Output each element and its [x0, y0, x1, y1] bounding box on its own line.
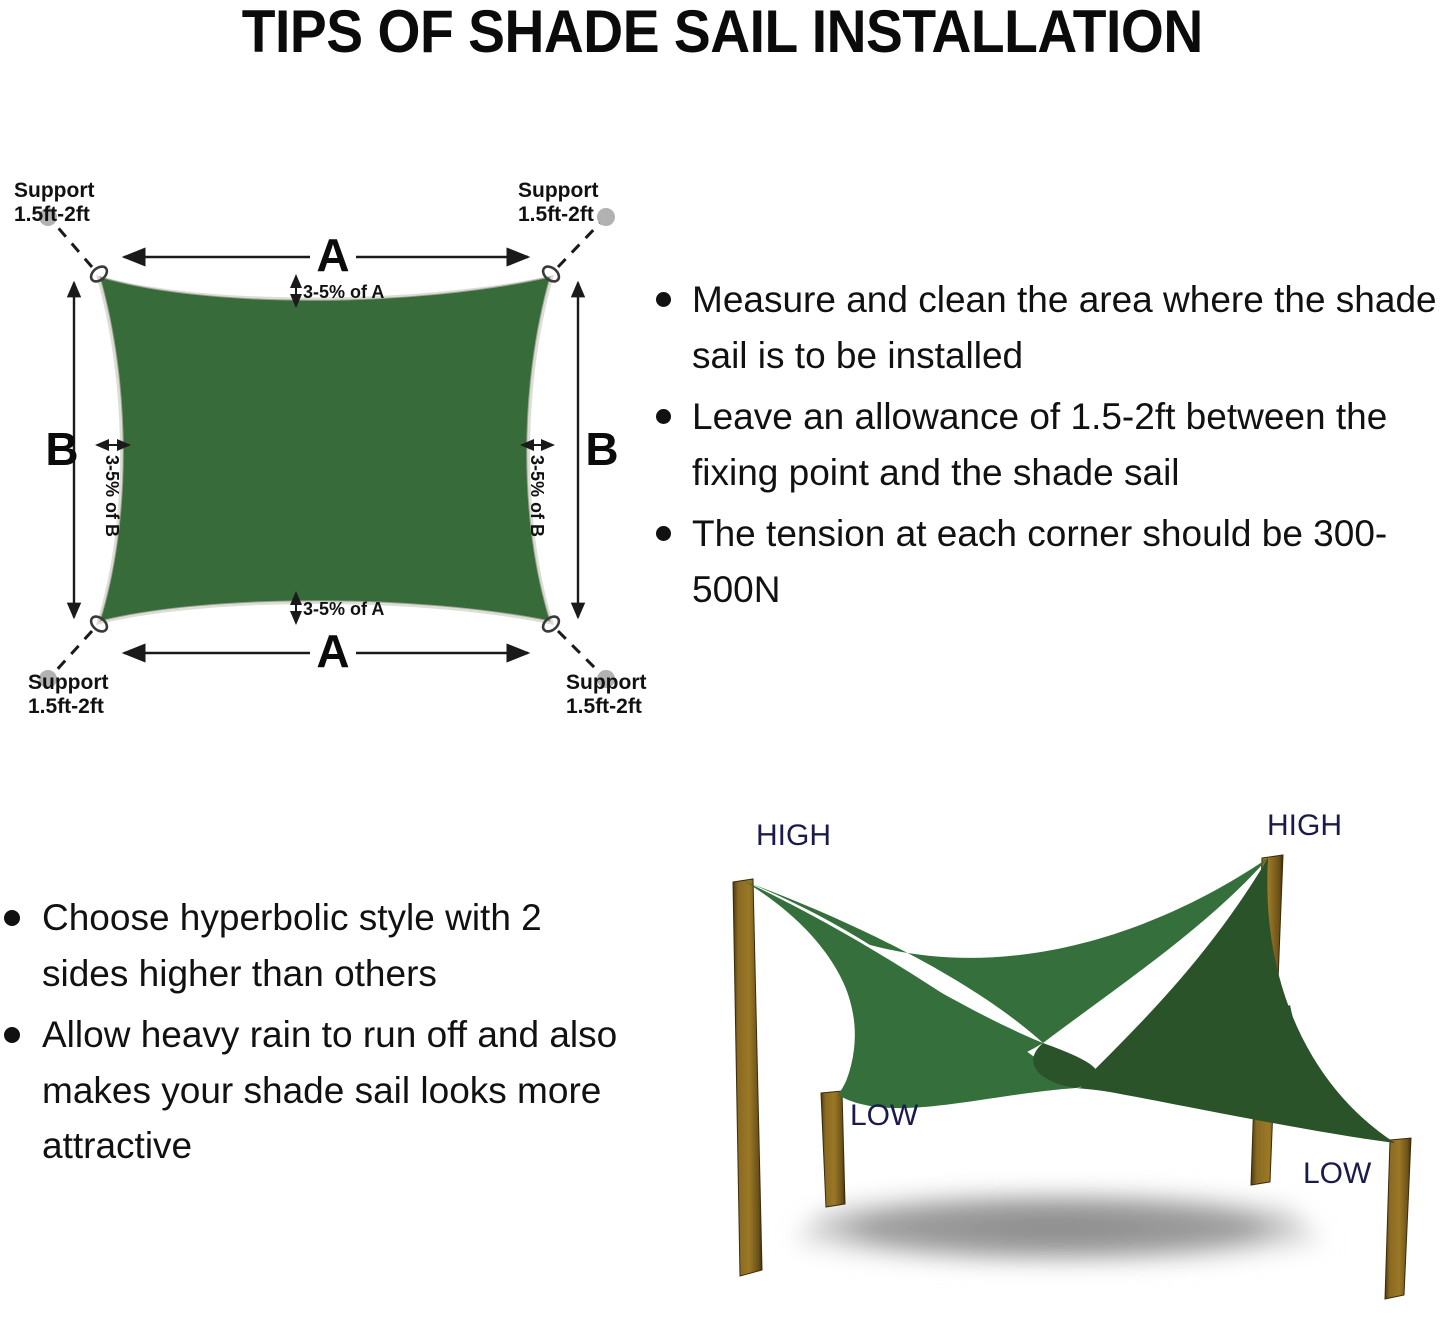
sail-right-body	[1070, 858, 1395, 1143]
post-high-left	[733, 879, 762, 1276]
post-low-left	[821, 1091, 845, 1207]
label-high-left: HIGH	[756, 819, 831, 852]
rectangular-sail-diagram: Support 1.5ft-2ft Support 1.5ft-2ft Supp…	[0, 155, 660, 730]
support-dot-top-right	[597, 208, 615, 226]
list-item: Choose hyperbolic style with 2 sides hig…	[0, 890, 620, 1001]
dim-a-top-label: A	[316, 229, 349, 281]
support-label-bottom-right-line1: Support	[566, 671, 646, 694]
list-item-text: Allow heavy rain to run off and also mak…	[42, 1014, 617, 1166]
support-label-bottom-right-line2: 1.5ft-2ft	[566, 695, 642, 718]
page-title: TIPS OF SHADE SAIL INSTALLATION	[242, 2, 1203, 62]
list-item: Allow heavy rain to run off and also mak…	[0, 1007, 620, 1174]
label-low-left: LOW	[850, 1099, 919, 1132]
dim-b-right-label: B	[585, 423, 618, 475]
page-title-bar: TIPS OF SHADE SAIL INSTALLATION	[0, 0, 1445, 64]
bullet-dot-icon	[656, 409, 671, 424]
support-line-top-left	[54, 223, 92, 267]
bullet-dot-icon	[656, 292, 671, 307]
dim-b-left-label: B	[45, 423, 78, 475]
bullet-dot-icon	[4, 910, 20, 926]
curve-b-left-label: 3-5% of B	[102, 455, 122, 537]
list-item: Leave an allowance of 1.5-2ft between th…	[648, 389, 1445, 500]
list-item-text: Choose hyperbolic style with 2 sides hig…	[42, 897, 542, 994]
support-label-top-left-line1: Support	[14, 179, 94, 202]
list-item: Measure and clean the area where the sha…	[648, 272, 1445, 383]
installation-tips-list: Measure and clean the area where the sha…	[648, 272, 1445, 623]
support-line-top-right	[558, 223, 600, 267]
support-label-bottom-left-line1: Support	[28, 671, 108, 694]
curve-a-bottom-label: 3-5% of A	[303, 599, 384, 619]
curve-b-right-label: 3-5% of B	[527, 455, 547, 537]
support-label-top-left-line2: 1.5ft-2ft	[14, 203, 90, 226]
support-line-bottom-left	[54, 631, 92, 673]
support-label-top-right-line2: 1.5ft-2ft	[518, 203, 594, 226]
curve-a-top-label: 3-5% of A	[303, 282, 384, 302]
list-item-text: Leave an allowance of 1.5-2ft between th…	[692, 396, 1387, 493]
list-item-text: Measure and clean the area where the sha…	[692, 279, 1437, 376]
dim-a-bottom-label: A	[316, 625, 349, 677]
bullet-dot-icon	[4, 1027, 20, 1043]
hyperbolic-sail-diagram: HIGH HIGH LOW LOW	[690, 795, 1440, 1315]
bullet-dot-icon	[656, 526, 671, 541]
support-label-top-right-line1: Support	[518, 179, 598, 202]
list-item-text: The tension at each corner should be 300…	[692, 513, 1387, 610]
hyperbolic-tips-list: Choose hyperbolic style with 2 sides hig…	[0, 890, 620, 1180]
post-low-right	[1385, 1138, 1411, 1299]
label-high-right: HIGH	[1267, 809, 1342, 842]
label-low-right: LOW	[1303, 1157, 1372, 1190]
shade-sail-shape	[100, 277, 550, 621]
support-line-bottom-right	[558, 631, 600, 673]
support-label-bottom-left-line2: 1.5ft-2ft	[28, 695, 104, 718]
ground-shadow	[770, 1190, 1345, 1265]
list-item: The tension at each corner should be 300…	[648, 506, 1445, 617]
